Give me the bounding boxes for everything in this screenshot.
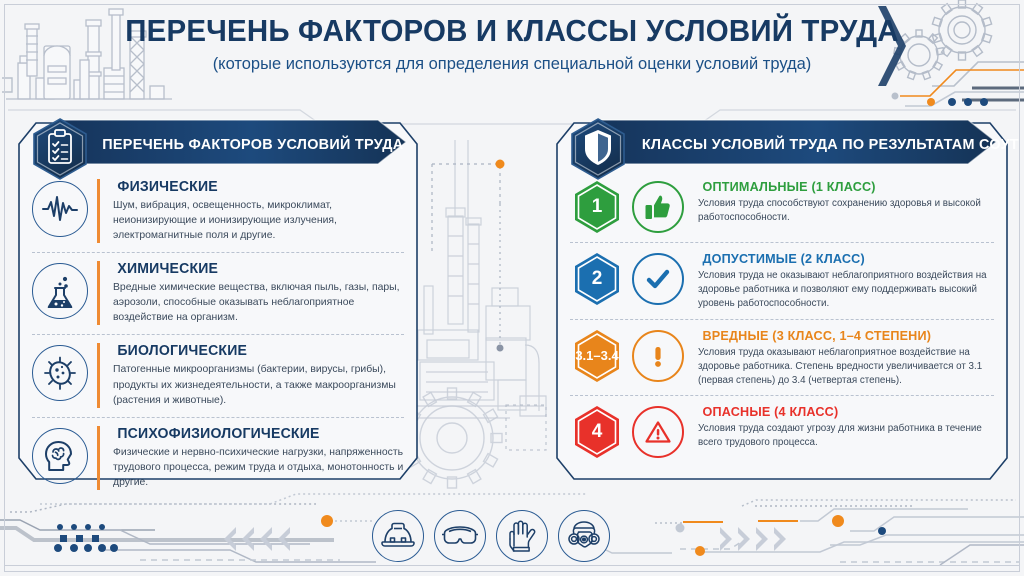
factors-panel-title: ПЕРЕЧЕНЬ ФАКТОРОВ УСЛОВИЙ ТРУДА xyxy=(102,136,403,153)
ppe-icon-strip xyxy=(372,510,610,562)
class-title: ВРЕДНЫЕ (3 КЛАСС, 1–4 СТЕПЕНИ) xyxy=(702,328,991,343)
bacteria-icon xyxy=(32,345,88,401)
class-item-4[interactable]: 4 ОПАСНЫЕ (4 КЛАСС) Условия труда создаю… xyxy=(556,395,1008,467)
hard-hat-icon xyxy=(372,510,424,562)
class-item-1[interactable]: 1 ОПТИМАЛЬНЫЕ (1 КЛАСС) Условия труда сп… xyxy=(556,170,1008,242)
class-badge-2: 2 xyxy=(572,251,622,307)
class-desc: Условия труда создают угрозу для жизни р… xyxy=(698,422,996,450)
waveform-icon xyxy=(32,181,88,237)
thumbs-up-icon xyxy=(632,181,684,233)
flask-icon xyxy=(32,263,88,319)
class-title: ОПАСНЫЕ (4 КЛАСС) xyxy=(702,404,991,419)
respirator-icon xyxy=(558,510,610,562)
factor-item-biological[interactable]: БИОЛОГИЧЕСКИЕ Патогенные микроорганизмы … xyxy=(18,334,418,416)
chevrons-right xyxy=(720,527,786,551)
page-subtitle: (которые используются для определения сп… xyxy=(15,54,1008,74)
page-title: ПЕРЕЧЕНЬ ФАКТОРОВ И КЛАССЫ УСЛОВИЙ ТРУДА xyxy=(26,14,999,48)
factors-panel: ПЕРЕЧЕНЬ ФАКТОРОВ УСЛОВИЙ ТРУДА xyxy=(18,122,418,480)
class-desc: Условия труда способствуют сохранению зд… xyxy=(698,197,996,225)
bottom-divider xyxy=(4,565,1020,566)
class-badge-label: 4 xyxy=(572,404,622,460)
factors-list: ФИЗИЧЕСКИЕ Шум, вибрация, освещенность, … xyxy=(18,170,418,499)
factor-item-psychophysiological[interactable]: ПСИХОФИЗИОЛОГИЧЕСКИЕ Физические и нервно… xyxy=(18,417,418,499)
classes-list: 1 ОПТИМАЛЬНЫЕ (1 КЛАСС) Условия труда сп… xyxy=(556,170,1008,467)
class-badge-4: 4 xyxy=(572,404,622,460)
bracket-top-left xyxy=(2,78,12,92)
shield-icon xyxy=(570,118,626,180)
warning-triangle-icon xyxy=(632,406,684,458)
factor-title: ФИЗИЧЕСКИЕ xyxy=(117,179,399,195)
factor-item-physical[interactable]: ФИЗИЧЕСКИЕ Шум, вибрация, освещенность, … xyxy=(18,170,418,252)
factory-silhouette-center xyxy=(410,140,546,418)
factor-desc: Патогенные микроорганизмы (бактерии, вир… xyxy=(113,362,404,407)
gloves-icon xyxy=(496,510,548,562)
safety-goggles-icon xyxy=(434,510,486,562)
class-title: ДОПУСТИМЫЕ (2 КЛАСС) xyxy=(702,251,991,266)
infographic-canvas: ПЕРЕЧЕНЬ ФАКТОРОВ И КЛАССЫ УСЛОВИЙ ТРУДА… xyxy=(0,0,1024,576)
factor-desc: Вредные химические вещества, включая пыл… xyxy=(113,280,404,325)
exclamation-icon xyxy=(632,330,684,382)
class-badge-label: 2 xyxy=(572,251,622,307)
header: ПЕРЕЧЕНЬ ФАКТОРОВ И КЛАССЫ УСЛОВИЙ ТРУДА… xyxy=(0,14,1024,74)
factor-title: ПСИХОФИЗИОЛОГИЧЕСКИЕ xyxy=(117,426,399,442)
head-brain-icon xyxy=(32,428,88,484)
class-item-2[interactable]: 2 ДОПУСТИМЫЕ (2 КЛАСС) Условия труда не … xyxy=(556,242,1008,319)
class-badge-label: 1 xyxy=(572,179,622,235)
factor-item-chemical[interactable]: ХИМИЧЕСКИЕ Вредные химические вещества, … xyxy=(18,252,418,334)
class-title: ОПТИМАЛЬНЫЕ (1 КЛАСС) xyxy=(702,179,991,194)
factor-title: БИОЛОГИЧЕСКИЕ xyxy=(117,343,399,359)
classes-panel: КЛАССЫ УСЛОВИЙ ТРУДА ПО РЕЗУЛЬТАТАМ СОУТ… xyxy=(556,122,1008,480)
circuit-bottom-right xyxy=(574,500,1024,565)
check-icon xyxy=(632,253,684,305)
clipboard-checklist-icon xyxy=(32,118,88,180)
class-desc: Условия труда не оказывают неблагоприятн… xyxy=(698,269,996,312)
factor-title: ХИМИЧЕСКИЕ xyxy=(117,261,399,277)
class-badge-3: 3.1–3.4 xyxy=(572,328,622,384)
class-desc: Условия труда оказывают неблагоприятное … xyxy=(698,346,996,389)
class-badge-label: 3.1–3.4 xyxy=(572,328,622,384)
classes-panel-title: КЛАССЫ УСЛОВИЙ ТРУДА ПО РЕЗУЛЬТАТАМ СОУТ xyxy=(642,136,1019,153)
class-badge-1: 1 xyxy=(572,179,622,235)
factor-desc: Физические и нервно-психические нагрузки… xyxy=(113,445,404,490)
factor-desc: Шум, вибрация, освещенность, микроклимат… xyxy=(113,198,404,243)
class-item-3[interactable]: 3.1–3.4 ВРЕДНЫЕ (3 КЛАСС, 1–4 СТЕПЕНИ) У… xyxy=(556,319,1008,396)
